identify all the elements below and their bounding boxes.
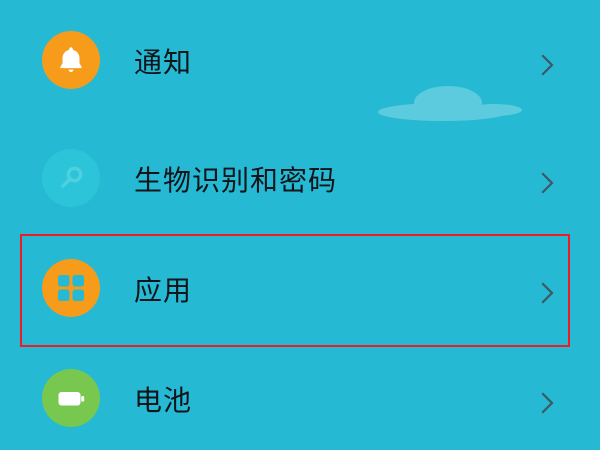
battery-icon [42,369,100,427]
chevron-right-icon[interactable] [538,388,558,418]
chevron-right-icon[interactable] [538,278,558,308]
settings-row-biometrics[interactable]: 生物识别和密码 [0,123,600,233]
settings-row-battery[interactable]: 电池 [0,343,600,450]
settings-screen: 通知 生物识别和密码 [0,0,600,450]
settings-row-label: 生物识别和密码 [134,167,337,195]
settings-row-notifications[interactable]: 通知 [0,5,600,115]
settings-row-label: 应用 [134,277,192,305]
settings-row-apps[interactable]: 应用 [0,233,600,343]
settings-row-label: 通知 [134,49,192,77]
chevron-right-icon[interactable] [538,50,558,80]
chevron-right-icon[interactable] [538,168,558,198]
key-icon [42,149,100,207]
settings-row-label: 电池 [134,387,192,415]
bell-icon [42,31,100,89]
apps-grid-icon [42,259,100,317]
